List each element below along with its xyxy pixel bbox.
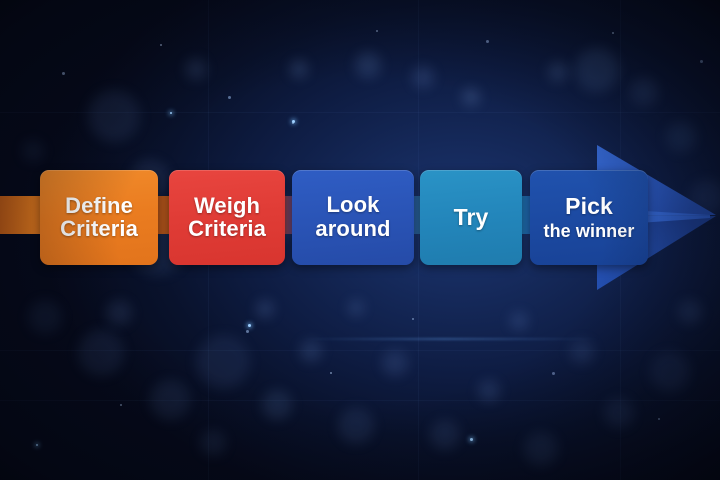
diagram-canvas: Define Criteria Weigh Criteria Look arou… <box>0 0 720 480</box>
vignette-overlay <box>0 0 720 480</box>
